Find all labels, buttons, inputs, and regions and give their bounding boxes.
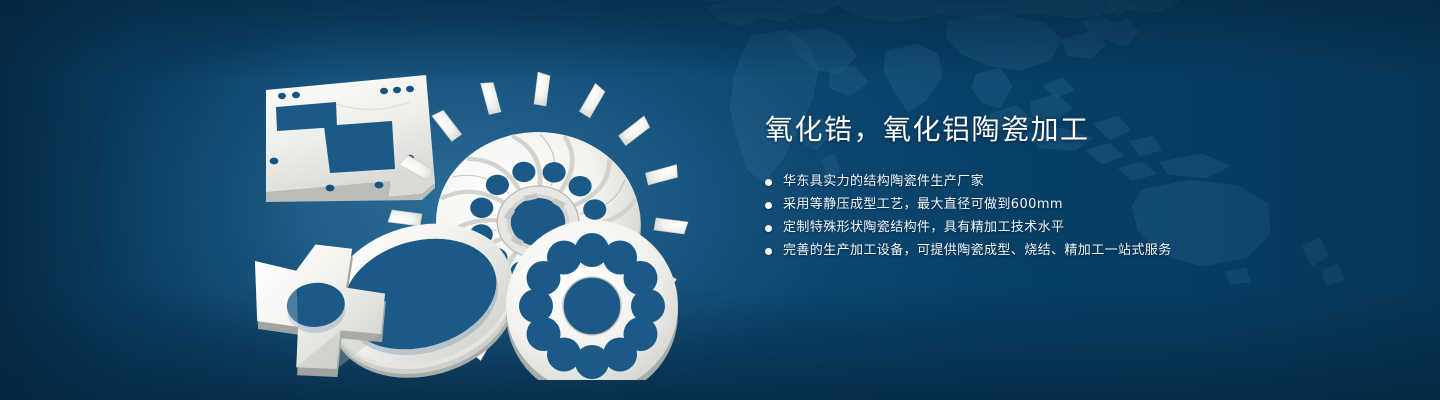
feature-item: 完善的生产加工设备，可提供陶瓷成型、烧结、精加工一站式服务 (765, 240, 1385, 262)
hero-banner: 氧化锆，氧化铝陶瓷加工 华东具实力的结构陶瓷件生产厂家 采用等静压成型工艺，最大… (0, 0, 1440, 400)
feature-item: 定制特殊形状陶瓷结构件，具有精加工技术水平 (765, 217, 1385, 239)
feature-item: 采用等静压成型工艺，最大直径可做到600mm (765, 194, 1385, 216)
product-photo (232, 44, 692, 380)
feature-text: 定制特殊形状陶瓷结构件，具有精加工技术水平 (783, 217, 1064, 239)
bullet-dot-icon (765, 248, 772, 255)
feature-item: 华东具实力的结构陶瓷件生产厂家 (765, 171, 1385, 193)
bullet-dot-icon (765, 225, 772, 232)
banner-headline: 氧化锆，氧化铝陶瓷加工 (765, 110, 1385, 150)
part-ceramic-plate (266, 75, 435, 202)
feature-list: 华东具实力的结构陶瓷件生产厂家 采用等静压成型工艺，最大直径可做到600mm 定… (765, 171, 1385, 262)
feature-text: 华东具实力的结构陶瓷件生产厂家 (783, 171, 984, 193)
banner-copy: 氧化锆，氧化铝陶瓷加工 华东具实力的结构陶瓷件生产厂家 采用等静压成型工艺，最大… (765, 110, 1385, 263)
feature-text: 完善的生产加工设备，可提供陶瓷成型、烧结、精加工一站式服务 (783, 240, 1172, 262)
bullet-dot-icon (765, 179, 772, 186)
feature-text: 采用等静压成型工艺，最大直径可做到600mm (783, 194, 1063, 216)
bullet-dot-icon (765, 202, 772, 209)
